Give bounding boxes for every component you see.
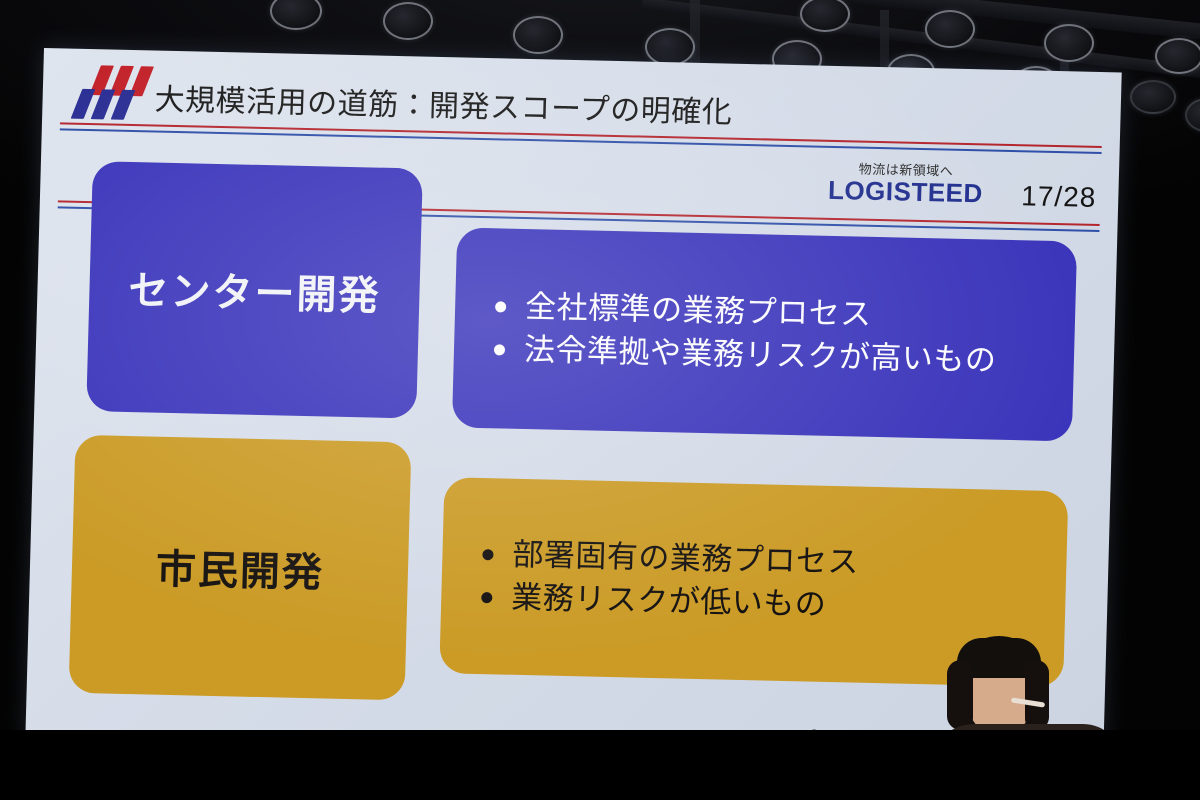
company-logo-icon bbox=[64, 62, 154, 122]
detail-card-center-development: 全社標準の業務プロセス 法令準拠や業務リスクが高いもの bbox=[452, 227, 1077, 441]
stage-light-icon bbox=[645, 28, 695, 66]
stage-light-icon bbox=[1185, 98, 1200, 132]
stage-light-icon bbox=[1130, 80, 1176, 114]
header-divider-blue bbox=[60, 128, 1102, 154]
stage-light-icon bbox=[1155, 38, 1200, 74]
bullet-list: 部署固有の業務プロセス 業務リスクが低いもの bbox=[441, 532, 1067, 632]
stage-photo: 大規模活用の道筋：開発スコープの明確化 物流は新領域へ LOGISTEED 17… bbox=[0, 0, 1200, 800]
category-label: センター開発 bbox=[128, 258, 382, 322]
stage-floor bbox=[0, 730, 1200, 800]
stage-light-icon bbox=[513, 16, 563, 54]
page-number: 17/28 bbox=[1021, 180, 1097, 214]
brand-name: LOGISTEED bbox=[820, 177, 991, 208]
brand-block: 物流は新領域へ LOGISTEED bbox=[820, 158, 991, 208]
category-card-center-development: センター開発 bbox=[86, 161, 423, 418]
category-label: 市民開発 bbox=[155, 537, 325, 599]
stage-light-icon bbox=[383, 2, 433, 40]
stage-light-icon bbox=[1044, 24, 1094, 62]
slide-title: 大規模活用の道筋：開発スコープの明確化 bbox=[154, 75, 733, 132]
speaker-side-hair-left bbox=[947, 660, 973, 730]
category-card-citizen-development: 市民開発 bbox=[69, 435, 412, 701]
stage-light-icon bbox=[270, 0, 322, 30]
stage-light-icon bbox=[925, 10, 975, 48]
bullet-list: 全社標準の業務プロセス 法令準拠や業務リスクが高いもの bbox=[453, 285, 1075, 385]
speaker-side-hair-right bbox=[1025, 660, 1049, 730]
